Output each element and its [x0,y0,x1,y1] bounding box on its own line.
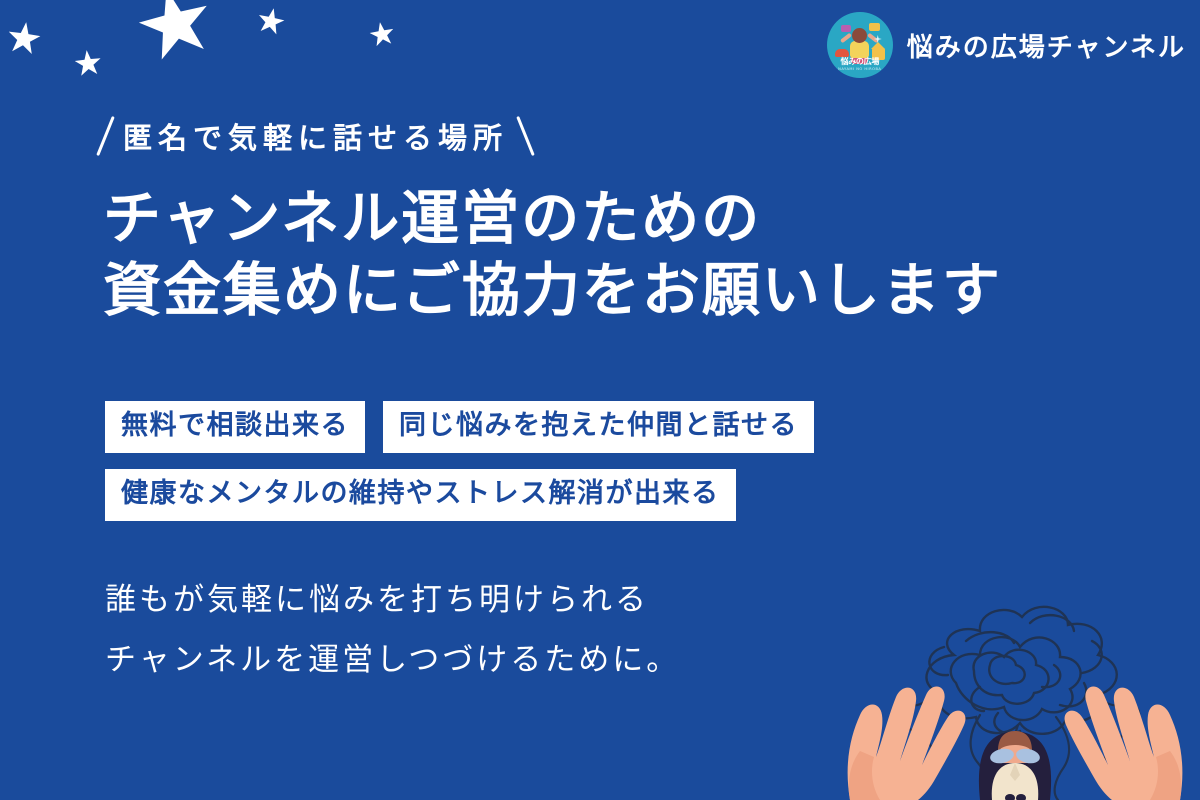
feature-tag: 無料で相談出来る [105,401,365,453]
star-icon [74,49,103,78]
logo-car-icon [835,49,849,57]
body-copy: 誰もが気軽に悩みを打ち明けられる チャンネルを運営しつづけるために。 [105,570,680,690]
promo-poster: 悩みの広場 NAYAMI NO HIROBA 悩みの広場チャンネル 匿名で気軽に… [0,0,1200,800]
hero-kicker: 匿名で気軽に話せる場所 [104,115,527,157]
logo-badge-subtitle: NAYAMI NO HIROBA [827,67,893,72]
body-copy-line-2: チャンネルを運営しつづけるために。 [105,630,680,690]
left-hand-shape [848,686,966,800]
star-icon [256,6,287,37]
feature-tag-row: 無料で相談出来る 同じ悩みを抱えた仲間と話せる [105,401,1085,453]
hero-headline-line-1: チャンネル運営のための [103,182,1002,254]
logo-person-head [852,28,867,43]
logo-note-shape [841,25,851,32]
hero-kicker-text: 匿名で気軽に話せる場所 [123,115,508,157]
star-icon [133,0,218,65]
body-copy-line-1: 誰もが気軽に悩みを打ち明けられる [105,570,680,630]
logo-person-arm [840,33,852,44]
feature-tag-row: 健康なメンタルの維持やストレス解消が出来る [105,469,1085,521]
slash-left-icon [96,116,115,156]
hero-headline-line-2: 資金集めにご協力をお願いします [103,254,1002,326]
logo-note-shape [869,23,880,31]
logo-badge-title: 悩みの広場 [827,57,893,66]
logo-person-body [850,41,869,58]
right-hand-shape [1065,686,1183,800]
hands-untangling-thoughts-illustration [830,565,1200,800]
feature-tag-list: 無料で相談出来る 同じ悩みを抱えた仲間と話せる 健康なメンタルの維持やストレス解… [105,401,1085,537]
hero-headline: チャンネル運営のための 資金集めにご協力をお願いします [103,182,1002,326]
channel-name: 悩みの広場チャンネル [907,27,1186,64]
channel-logo-lockup[interactable]: 悩みの広場 NAYAMI NO HIROBA 悩みの広場チャンネル [827,12,1186,78]
channel-logo-icon: 悩みの広場 NAYAMI NO HIROBA [827,12,893,78]
feature-tag: 健康なメンタルの維持やストレス解消が出来る [105,469,736,521]
star-icon [6,20,42,56]
feature-tag: 同じ悩みを抱えた仲間と話せる [383,401,814,453]
slash-right-icon [516,116,535,156]
star-icon [368,20,396,48]
